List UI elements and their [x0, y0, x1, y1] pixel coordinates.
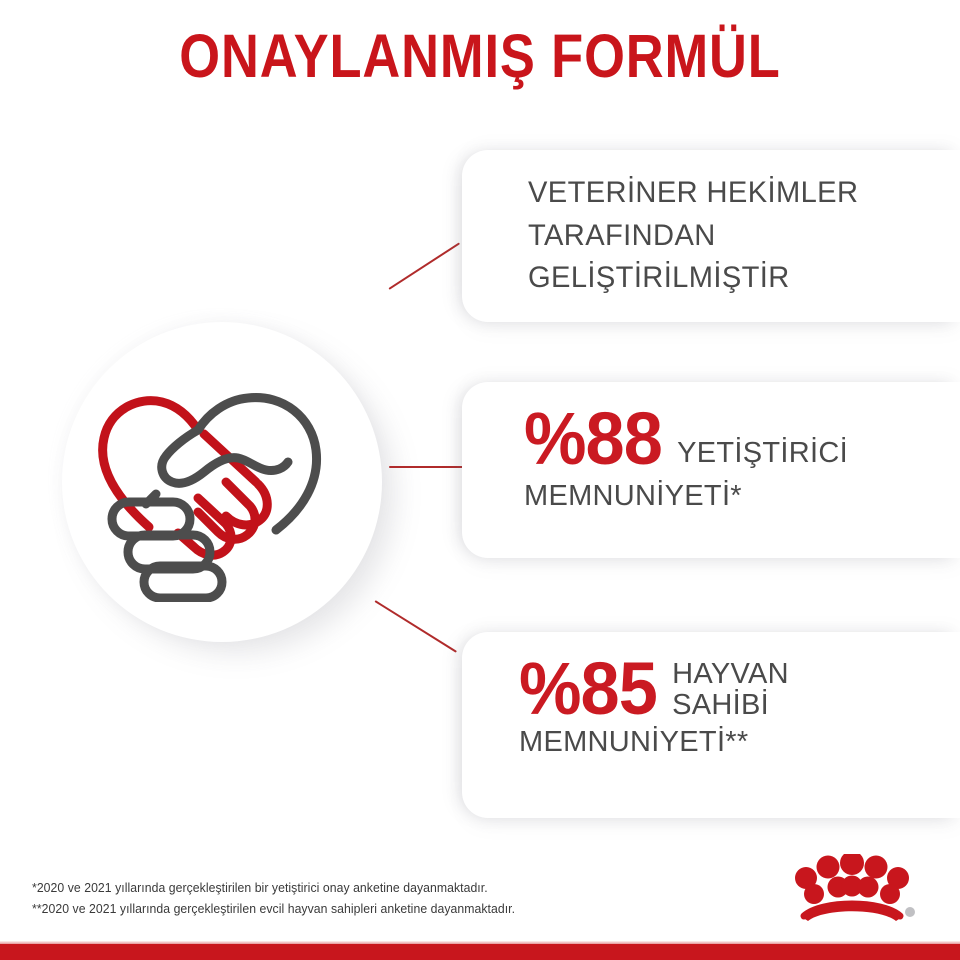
stat-85-value: %85 [519, 654, 657, 724]
handshake-heart-icon [86, 352, 354, 602]
bottom-red-bar [0, 944, 960, 960]
stat-85-block: %85 HAYVAN SAHİBİ MEMNUNİYETİ** [519, 654, 949, 759]
footnote-line-2: **2020 ve 2021 yıllarında gerçekleştiril… [32, 899, 640, 920]
footnote-line-1: *2020 ve 2021 yıllarında gerçekleştirile… [32, 878, 640, 899]
stat-88-row: %88 YETİŞTİRİCİ [524, 404, 954, 474]
stat-85-row: %85 HAYVAN SAHİBİ [519, 654, 949, 724]
stat-85-side-label: HAYVAN SAHİBİ [672, 659, 789, 724]
connector-line-vet [388, 242, 460, 289]
stat-88-value: %88 [524, 404, 662, 474]
page-title: ONAYLANMIŞ FORMÜL [67, 26, 893, 87]
connector-line-88 [389, 466, 467, 468]
infographic-canvas: ONAYLANMIŞ FORMÜL VETERİNER HEKİMLER TAR… [0, 0, 960, 960]
royal-canin-crown-logo [786, 854, 918, 926]
footnotes: *2020 ve 2021 yıllarında gerçekleştirile… [32, 878, 640, 919]
stat-85-under-label: MEMNUNİYETİ** [519, 726, 949, 759]
stat-88-block: %88 YETİŞTİRİCİ MEMNUNİYETİ* [524, 404, 954, 513]
stat-88-under-label: MEMNUNİYETİ* [524, 480, 954, 513]
stat-88-side-label: YETİŞTİRİCİ [677, 438, 848, 473]
connector-line-85 [374, 600, 456, 653]
card-veteriner-text: VETERİNER HEKİMLER TARAFINDAN GELİŞTİRİL… [528, 172, 935, 300]
